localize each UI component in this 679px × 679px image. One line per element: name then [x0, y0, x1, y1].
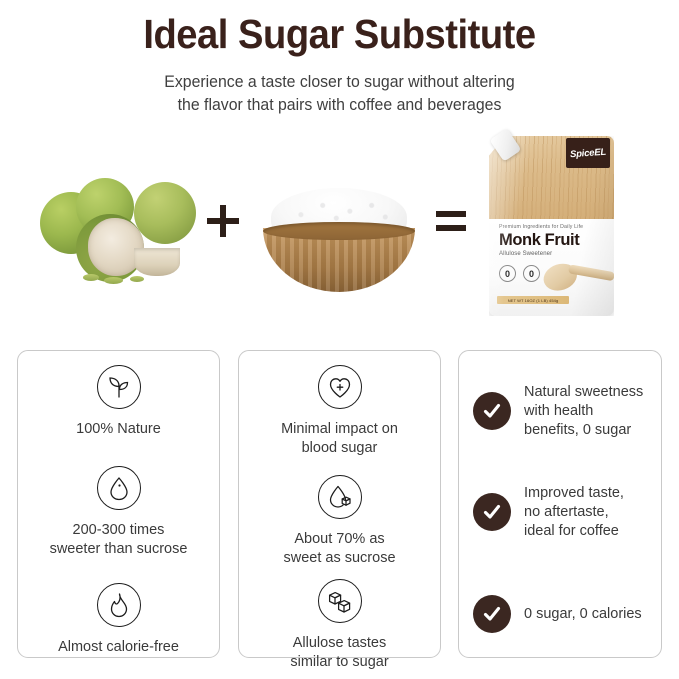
monk-fruit-image — [38, 170, 198, 285]
benefit-item: Natural sweetness with health benefits, … — [473, 383, 643, 440]
benefit-label: Improved taste, no aftertaste, ideal for… — [524, 484, 624, 541]
infographic-page: Ideal Sugar Substitute Experience a tast… — [0, 0, 679, 679]
feature-label: 100% Nature — [18, 420, 219, 439]
flame-icon — [97, 583, 141, 627]
card-benefits: Natural sweetness with health benefits, … — [458, 350, 662, 658]
feature-item: 200-300 times sweeter than sucrose — [18, 466, 219, 558]
equals-icon — [436, 211, 466, 233]
benefit-label: Natural sweetness with health benefits, … — [524, 383, 643, 440]
benefit-item: 0 sugar, 0 calories — [473, 595, 642, 633]
heart-plus-icon — [318, 365, 362, 409]
feature-label: 200-300 times sweeter than sucrose — [18, 521, 219, 558]
card-nature: 100% Nature 200-300 times sweeter than s… — [17, 350, 220, 658]
sugar-cubes-icon — [318, 579, 362, 623]
feature-label: About 70% as sweet as sucrose — [239, 530, 440, 567]
monk-fruit-crumb — [83, 274, 99, 281]
header: Ideal Sugar Substitute Experience a tast… — [0, 0, 679, 118]
monk-fruit-shell — [134, 248, 180, 276]
sugar-bowl-image — [263, 188, 415, 292]
bowl-rim — [263, 222, 415, 240]
subtitle-line-1: Experience a taste closer to sugar witho… — [14, 71, 666, 94]
drop-sugar-cube-icon — [318, 475, 362, 519]
feature-item: Minimal impact on blood sugar — [239, 365, 440, 457]
product-pouch: SpiceEL Premium Ingredients for Daily Li… — [489, 136, 614, 316]
pouch-body: SpiceEL Premium Ingredients for Daily Li… — [489, 136, 614, 316]
feature-item: 100% Nature — [18, 365, 219, 439]
feature-item: Allulose tastes similar to sugar — [239, 579, 440, 671]
water-drop-icon — [97, 466, 141, 510]
plus-icon — [207, 205, 239, 237]
check-circle-icon — [473, 595, 511, 633]
monk-fruit-whole — [134, 182, 196, 244]
monk-fruit-crumb — [104, 277, 123, 284]
check-circle-icon — [473, 493, 511, 531]
subtitle-line-2: the flavor that pairs with coffee and be… — [14, 94, 666, 117]
leaf-sprout-icon — [97, 365, 141, 409]
feature-item: Almost calorie-free — [18, 583, 219, 657]
card-health: Minimal impact on blood sugar About 70% … — [238, 350, 441, 658]
benefit-item: Improved taste, no aftertaste, ideal for… — [473, 484, 624, 541]
check-circle-icon — [473, 392, 511, 430]
feature-label: Minimal impact on blood sugar — [239, 420, 440, 457]
monk-fruit-crumb — [130, 276, 144, 282]
feature-item: About 70% as sweet as sucrose — [239, 475, 440, 567]
page-title: Ideal Sugar Substitute — [24, 14, 655, 55]
pouch-shine — [489, 136, 614, 316]
feature-label: Almost calorie-free — [18, 638, 219, 657]
feature-label: Allulose tastes similar to sugar — [239, 634, 440, 671]
page-subtitle: Experience a taste closer to sugar witho… — [14, 71, 666, 118]
feature-cards: 100% Nature 200-300 times sweeter than s… — [0, 350, 679, 662]
benefit-label: 0 sugar, 0 calories — [524, 605, 642, 624]
